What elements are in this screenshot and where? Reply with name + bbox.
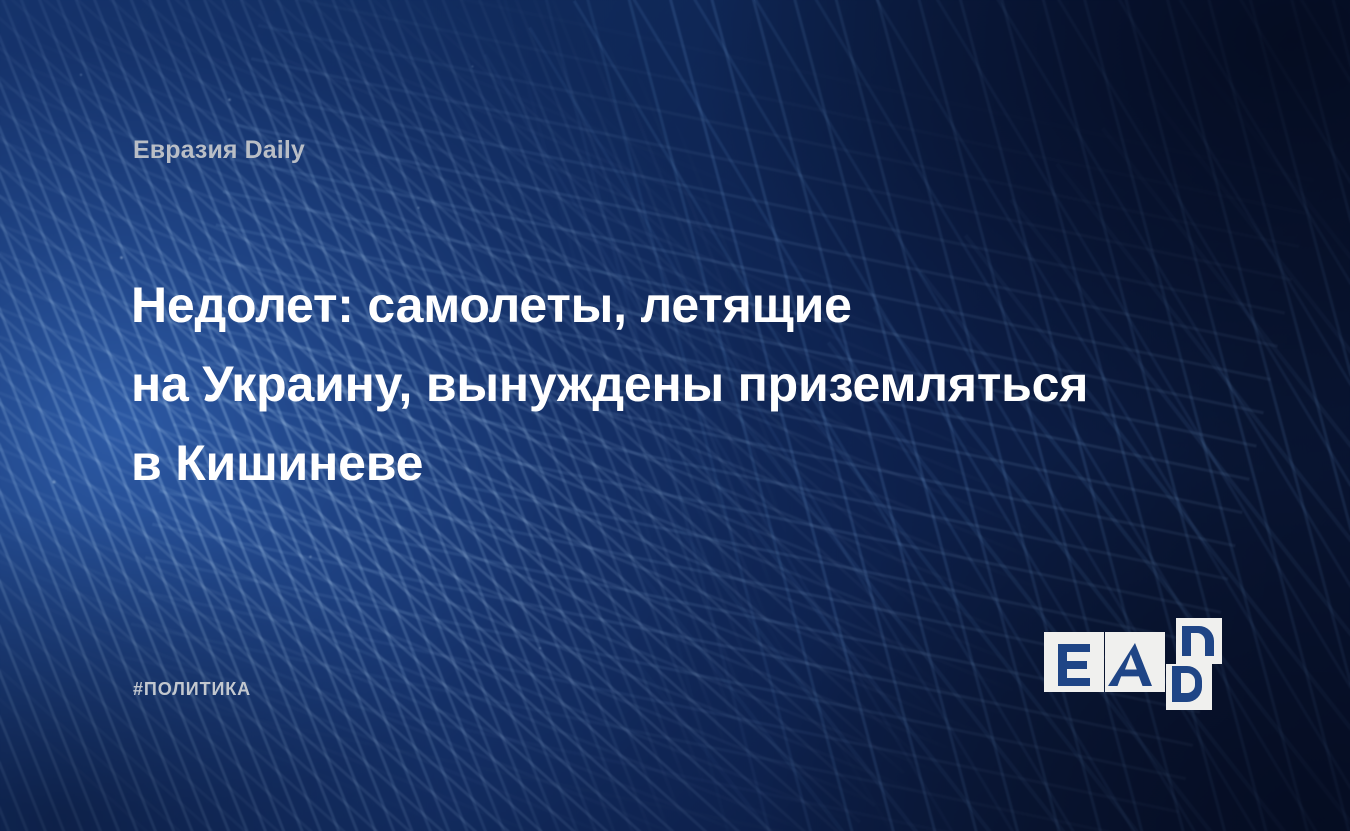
logo-tile-d-bottom [1166,664,1212,710]
headline-line-3: в Кишиневе [131,424,1221,503]
site-name: Евразия Daily [133,136,305,165]
eadaily-logo[interactable] [1044,618,1222,710]
headline-line-1: Недолет: самолеты, летящие [131,266,1221,345]
headline: Недолет: самолеты, летящие на Украину, в… [131,266,1221,503]
news-card: Евразия Daily Недолет: самолеты, летящие… [0,0,1350,831]
headline-line-2: на Украину, вынуждены приземляться [131,345,1221,424]
logo-tile-e [1044,632,1104,692]
logo-tile-d-top [1176,618,1222,664]
category-tag[interactable]: #ПОЛИТИКА [133,679,251,700]
logo-tile-a [1105,632,1165,692]
